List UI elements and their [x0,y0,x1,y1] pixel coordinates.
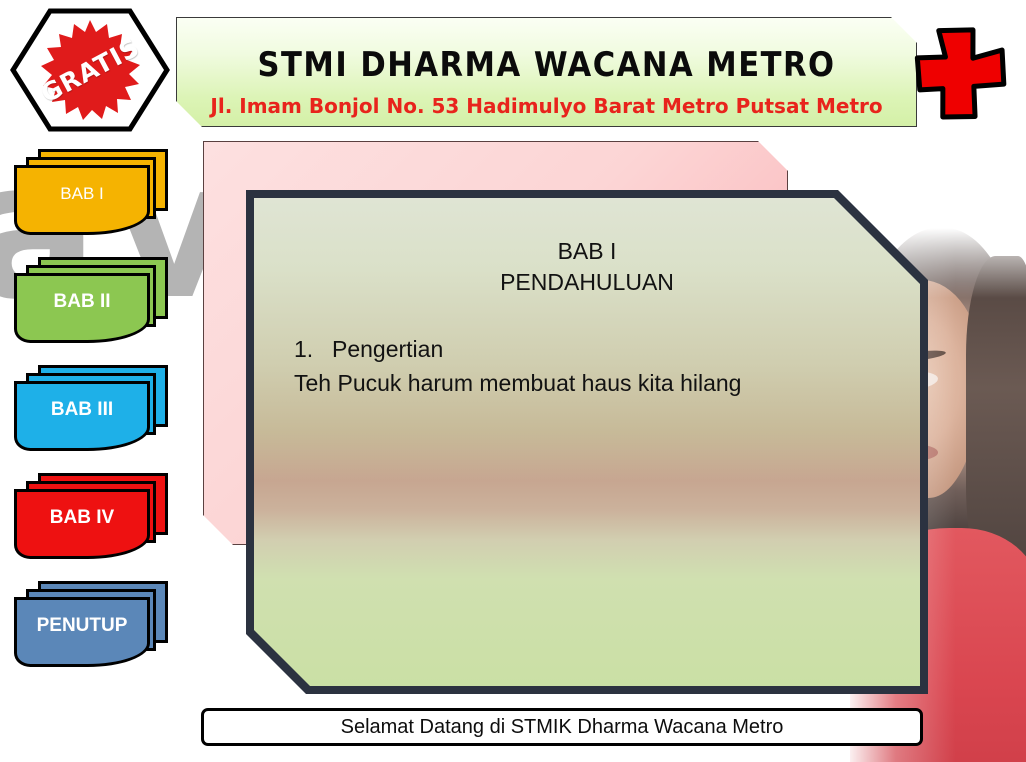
gratis-badge[interactable]: GRATIS [10,8,170,132]
sidebar-item-bab-1[interactable]: BAB I [0,145,180,237]
content-heading-line-2: PENDAHULUAN [294,267,880,298]
list-item: 1. Pengertian [294,332,880,366]
sidebar-item-label: PENUTUP [14,597,150,667]
slide-canvas: avo GRATIS STMI DHARMA WACANA METRO Jl. … [0,0,1026,762]
red-cross-icon [912,22,1010,126]
content-heading: BAB I PENDAHULUAN [294,236,880,298]
list-item-text: Pengertian [332,332,443,366]
sidebar-item-bab-2[interactable]: BAB II [0,253,180,345]
footer-text: Selamat Datang di STMIK Dharma Wacana Me… [341,716,784,739]
sidebar-item-label: BAB III [14,381,150,451]
sidebar-item-penutup[interactable]: PENUTUP [0,577,180,669]
sidebar-item-label: BAB II [14,273,150,343]
sidebar-item-label: BAB I [14,165,150,235]
sidebar-item-bab-4[interactable]: BAB IV [0,469,180,561]
sidebar-item-bab-3[interactable]: BAB III [0,361,180,453]
footer-bar: Selamat Datang di STMIK Dharma Wacana Me… [201,708,923,746]
content-paragraph: Teh Pucuk harum membuat haus kita hilang [294,366,880,400]
content-list: 1. Pengertian Teh Pucuk harum membuat ha… [294,332,880,400]
slide-header: STMI DHARMA WACANA METRO Jl. Imam Bonjol… [176,17,917,127]
page-title: STMI DHARMA WACANA METRO [177,45,916,85]
red-cross-shape [912,22,1010,126]
chapter-nav: BAB I BAB II BAB III BAB IV PENUTUP [0,145,195,685]
list-item-number: 1. [294,332,316,366]
content-heading-line-1: BAB I [294,236,880,267]
content-card: BAB I PENDAHULUAN 1. Pengertian Teh Pucu… [246,190,928,694]
sidebar-item-label: BAB IV [14,489,150,559]
page-subtitle: Jl. Imam Bonjol No. 53 Hadimulyo Barat M… [177,94,916,118]
content-body: BAB I PENDAHULUAN 1. Pengertian Teh Pucu… [254,198,920,686]
